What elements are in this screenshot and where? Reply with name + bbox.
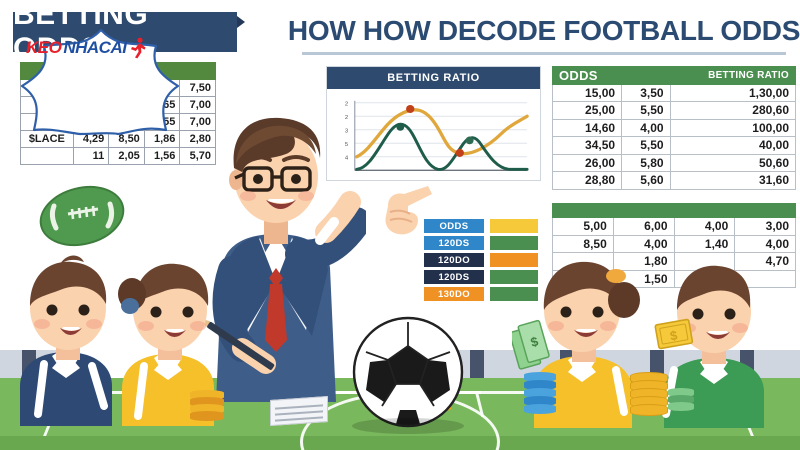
odds-th-odds: ODDS [553, 67, 622, 85]
table-row: 25,00 5,50 280,60 [553, 102, 796, 120]
table-row: 28,80 5,60 31,60 [553, 172, 796, 190]
badge-row-0: ODDS [424, 219, 540, 233]
title-divider [302, 52, 786, 55]
cell: 4,00 [622, 119, 671, 137]
cell: 14,60 [553, 119, 622, 137]
cell: 1,30,00 [670, 84, 795, 102]
cell [21, 148, 74, 165]
table-row: 15,00 3,50 1,30,00 [553, 84, 796, 102]
cell: 5,50 [622, 102, 671, 120]
sec-th-2 [674, 204, 735, 218]
money-bill-yellow: $ [654, 318, 694, 352]
odds-th-blank [622, 67, 671, 85]
secondary-table-header-row [553, 204, 796, 218]
cell: 4,00 [735, 235, 796, 253]
sec-th-3 [735, 204, 796, 218]
cell: 26,00 [553, 154, 622, 172]
cell: 25,00 [553, 102, 622, 120]
badge-120ds-b[interactable]: 120DS [424, 270, 484, 284]
soccer-ball-icon [352, 316, 464, 428]
running-man-icon [129, 37, 147, 59]
odds-table-header-row: ODDS BETTING RATIO [553, 67, 796, 85]
infographic-canvas: BETTING ODDS 2,80 7,50 S [0, 0, 800, 450]
cell: 50,60 [670, 154, 795, 172]
logo-text-nhacai: NHACAI [63, 38, 126, 58]
cell: 11 [73, 148, 109, 165]
cell: 40,00 [670, 137, 795, 155]
chart-line-orange [357, 110, 527, 157]
odds-th-ratio: BETTING RATIO [670, 67, 795, 85]
cell: 3,00 [735, 218, 796, 236]
cell: 6,00 [613, 218, 674, 236]
cell: 5,60 [622, 172, 671, 190]
odds-betting-ratio-table: ODDS BETTING RATIO 15,00 3,50 1,30,00 25… [552, 66, 796, 190]
sec-th-0 [553, 204, 614, 218]
badge-130do[interactable]: 130DO [424, 287, 484, 301]
ball-shadow [352, 418, 464, 434]
cell: 280,60 [670, 102, 795, 120]
cell: 34,50 [553, 137, 622, 155]
cell: 28,80 [553, 172, 622, 190]
table-row: 14,60 4,00 100,00 [553, 119, 796, 137]
cell: 15,00 [553, 84, 622, 102]
chart-marker-orange-dip [456, 149, 464, 157]
chart-marker-green-peak2 [466, 137, 474, 145]
page-title: HOW HOW DECODE FOOTBALL ODDS [300, 14, 788, 48]
cell: 5,00 [553, 218, 614, 236]
american-football-icon [38, 178, 126, 254]
table-row: 34,50 5,50 40,00 [553, 137, 796, 155]
logo-text-keo: KEO [26, 38, 61, 58]
table-row: 5,00 6,00 4,00 3,00 [553, 218, 796, 236]
cell: 5,80 [622, 154, 671, 172]
badge-120do[interactable]: 120DO [424, 253, 484, 267]
table-row: 26,00 5,80 50,60 [553, 154, 796, 172]
cell: 31,60 [670, 172, 795, 190]
cell: 5,50 [622, 137, 671, 155]
chart-marker-orange-peak [406, 105, 414, 113]
sec-th-1 [613, 204, 674, 218]
cell: 3,50 [622, 84, 671, 102]
cell: 1,56 [144, 148, 180, 165]
chart-title: BETTING RATIO [387, 72, 480, 84]
cell: 1,40 [674, 235, 735, 253]
cell: 4,00 [674, 218, 735, 236]
cell: 2,05 [109, 148, 145, 165]
money-bills-green: $ [512, 316, 560, 376]
notebook [270, 396, 328, 426]
chart-gridlines [355, 103, 527, 157]
badge-swatch-0 [490, 219, 538, 233]
cell: 100,00 [670, 119, 795, 137]
chart-marker-green-peak [396, 123, 404, 131]
pointing-hand-icon [378, 182, 434, 242]
keonhacai-logo: KEO NHACAI [26, 36, 166, 60]
